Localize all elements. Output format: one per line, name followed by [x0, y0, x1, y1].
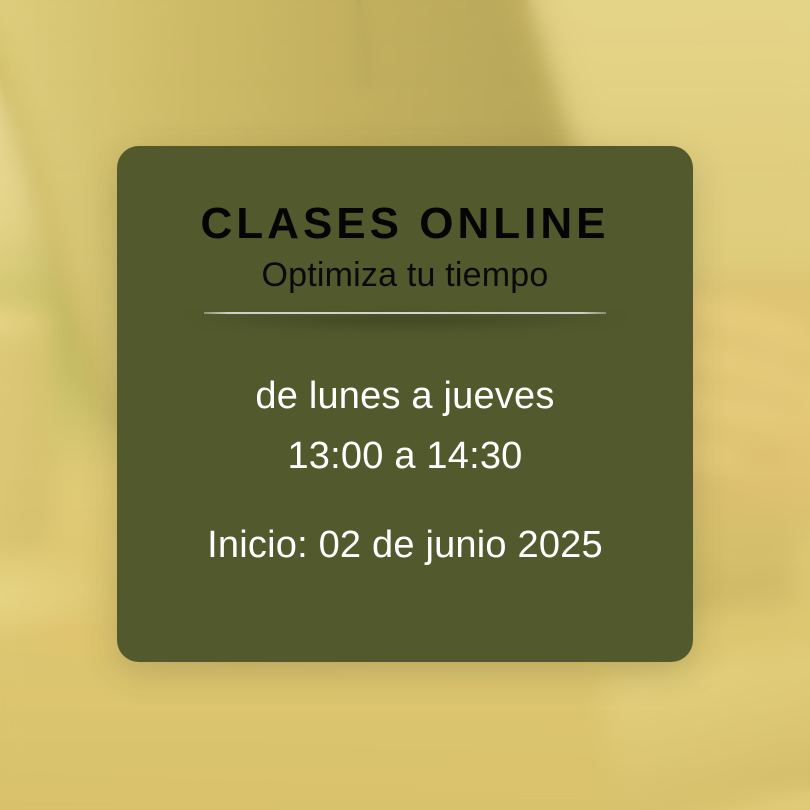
schedule-hours: 13:00 a 14:30 — [157, 426, 653, 487]
info-card: CLASES ONLINE Optimiza tu tiempo de lune… — [117, 146, 693, 662]
schedule-days: de lunes a jueves — [157, 366, 653, 427]
poster-canvas: CLASES ONLINE Optimiza tu tiempo de lune… — [0, 0, 810, 810]
page-subtitle: Optimiza tu tiempo — [157, 258, 653, 294]
divider — [204, 312, 606, 336]
schedule-block: de lunes a jueves 13:00 a 14:30 Inicio: … — [157, 366, 653, 576]
spacer — [157, 487, 653, 515]
divider-shadow — [188, 314, 622, 334]
start-date: Inicio: 02 de junio 2025 — [157, 515, 653, 576]
page-title: CLASES ONLINE — [157, 202, 653, 246]
divider-line — [204, 312, 606, 314]
